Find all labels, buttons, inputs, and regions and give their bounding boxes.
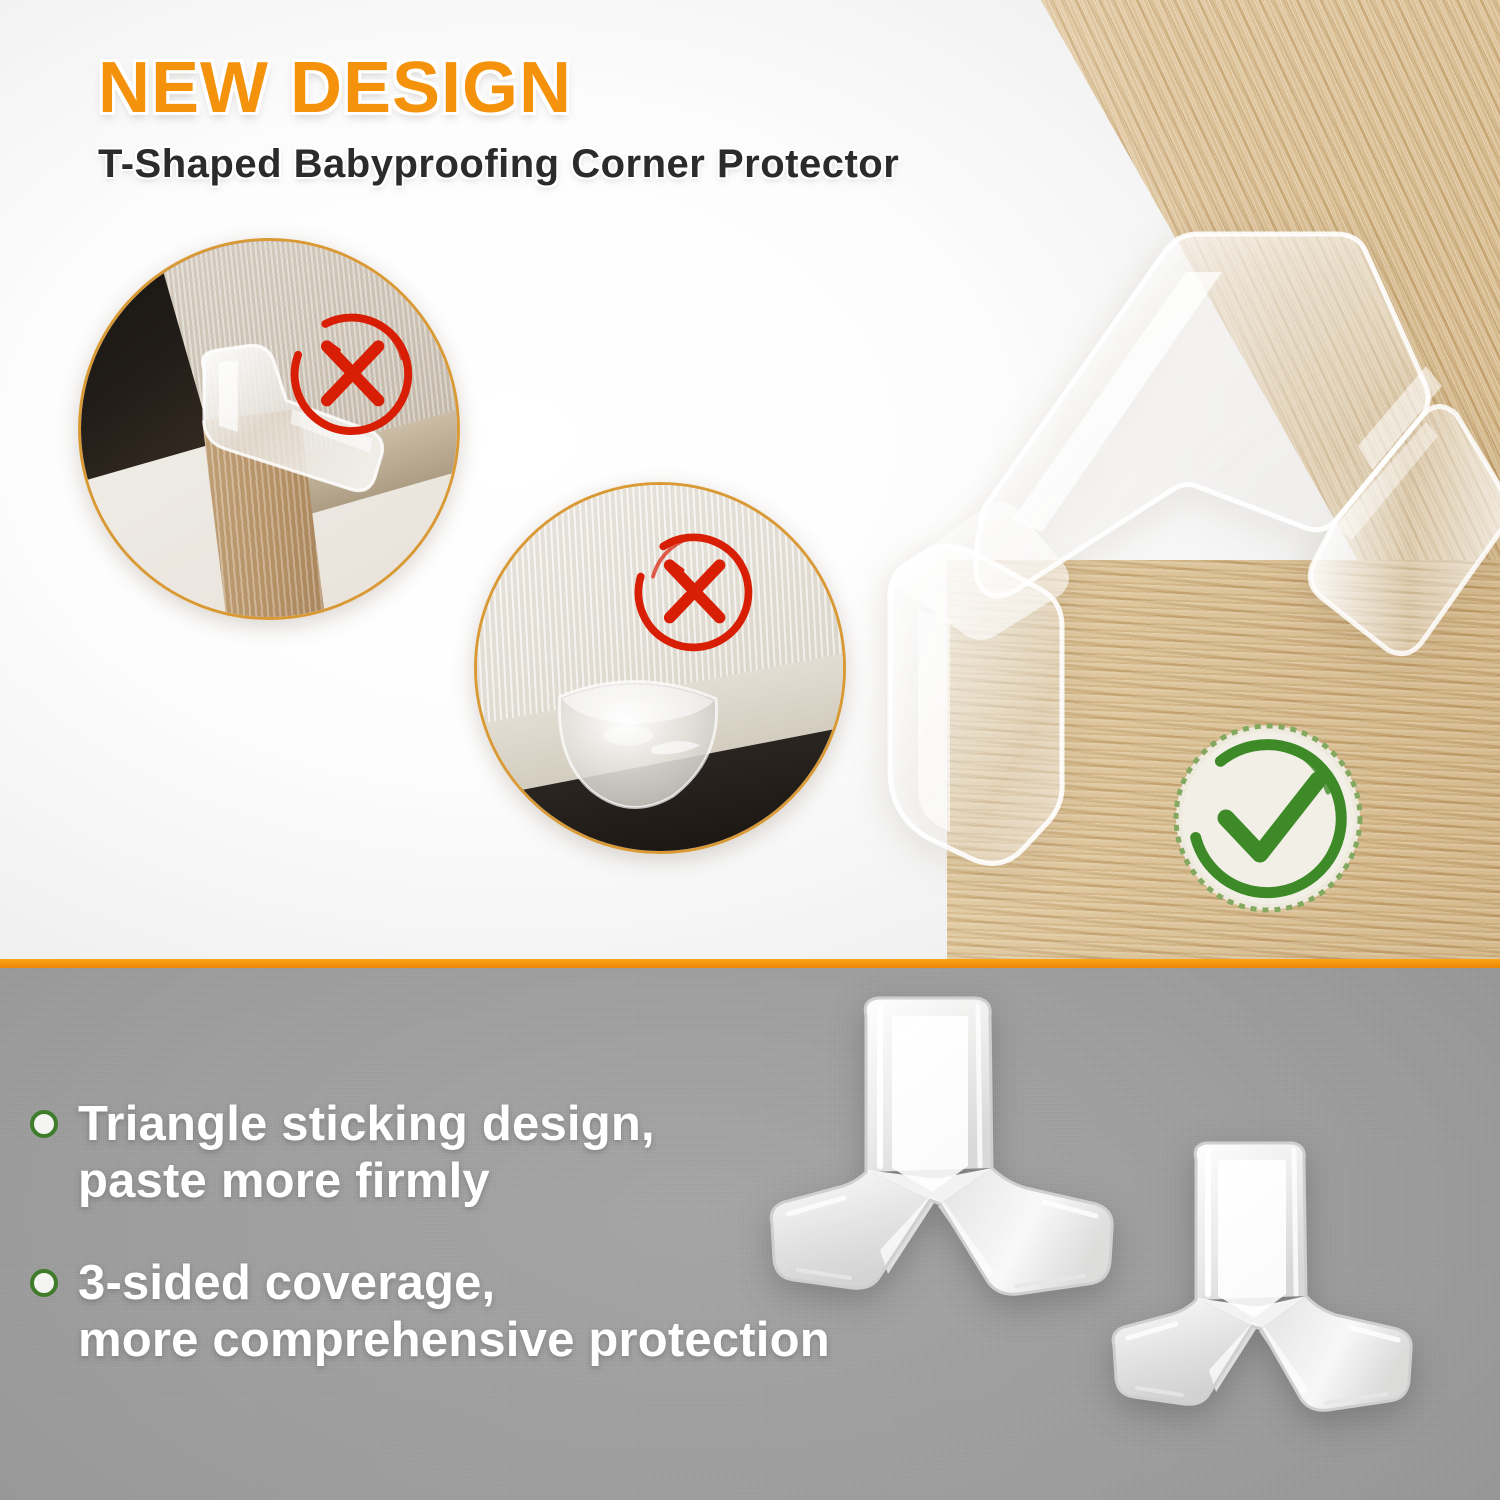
piece-inner-face bbox=[892, 1016, 968, 1192]
orange-divider bbox=[0, 959, 1500, 968]
bullet-line-2: paste more firmly bbox=[78, 1153, 655, 1210]
top-panel: NEW DESIGN T-Shaped Babyproofing Corner … bbox=[0, 0, 1500, 960]
bullet-text: Triangle sticking design, paste more fir… bbox=[78, 1096, 655, 1211]
bottom-panel: Triangle sticking design, paste more fir… bbox=[0, 968, 1500, 1500]
product-subtitle: T-Shaped Babyproofing Corner Protector bbox=[98, 142, 998, 187]
bullet-circle-icon bbox=[30, 1269, 58, 1297]
x-mark-icon bbox=[630, 528, 758, 656]
check-approved-badge bbox=[1168, 718, 1368, 918]
x-mark-icon bbox=[286, 308, 418, 440]
product-marketing-image: NEW DESIGN T-Shaped Babyproofing Corner … bbox=[0, 0, 1500, 1500]
bullet-line-1: Triangle sticking design, bbox=[78, 1097, 655, 1151]
protector-highlight-3 bbox=[918, 610, 950, 832]
bullet-line-1: 3-sided coverage, bbox=[78, 1256, 495, 1310]
product-piece-t-protector bbox=[1106, 1136, 1454, 1436]
inset-2-ball-dimple bbox=[603, 726, 654, 746]
bullet-text: 3-sided coverage, more comprehensive pro… bbox=[78, 1255, 830, 1370]
bullet-circle-icon bbox=[30, 1110, 58, 1138]
headline-block: NEW DESIGN T-Shaped Babyproofing Corner … bbox=[98, 52, 998, 187]
badge-disc-inner bbox=[1182, 732, 1354, 904]
piece-right-arm bbox=[1261, 1296, 1411, 1410]
bullet-line-2: more comprehensive protection bbox=[78, 1312, 830, 1369]
new-design-badge-text: NEW DESIGN bbox=[98, 52, 998, 124]
inset-2-ball-bumper bbox=[550, 661, 726, 822]
inset-1-bumper-highlight bbox=[218, 360, 237, 432]
piece-inner-face bbox=[1218, 1160, 1286, 1318]
